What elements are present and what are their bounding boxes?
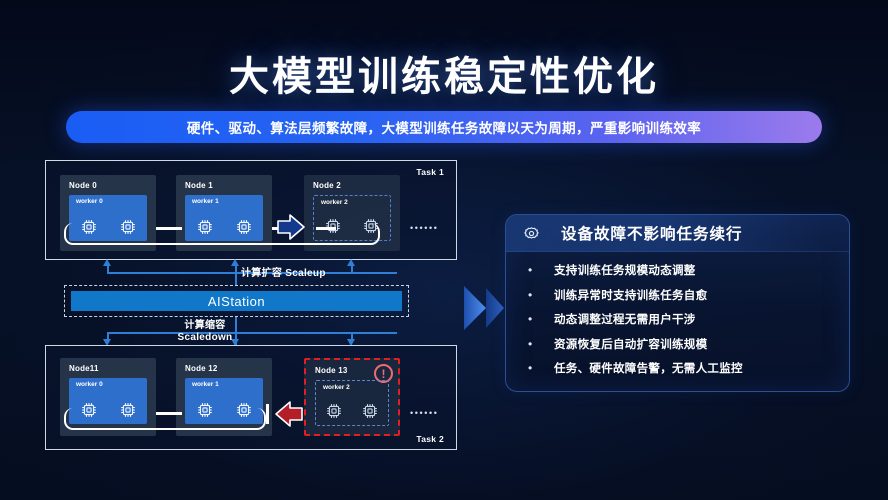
list-item-label: 任务、硬件故障告警，无需人工监控 [554,360,743,376]
aistation-container: AIStation [64,285,409,317]
node-label: Node 2 [313,181,341,190]
scaleup-arrow-icon [276,213,306,246]
headline-banner: 硬件、驱动、算法层频繁故障，大模型训练任务故障以天为周期，严重影响训练效率 [66,111,822,143]
benefits-list: • 支持训练任务规模动态调整 • 训练异常时支持训练任务自愈 • 动态调整过程无… [506,252,849,376]
list-item: • 任务、硬件故障告警，无需人工监控 [528,360,849,376]
scaledown-label-en: Scaledown [178,332,233,343]
node-label: Node 13 [315,366,348,375]
bullet-marker: • [528,362,540,374]
bullet-marker: • [528,338,540,350]
ring-end-cap [266,404,269,424]
scaleup-arrowhead [347,259,355,266]
list-item-label: 动态调整过程无需用户干涉 [554,311,696,327]
worker-box-removing: worker 2 [315,380,389,426]
cpu-chip-icon [360,401,380,421]
node-label: Node11 [69,364,99,373]
list-item-label: 资源恢复后自动扩容训练规模 [554,336,707,352]
task2-label: Task 2 [416,434,444,444]
worker-label: worker 2 [321,199,348,206]
scaleup-label: 计算扩容 Scaleup [241,268,326,280]
task1-label: Task 1 [416,167,444,177]
ring-loop [64,223,380,245]
task2-node-13: Node 13 ! worker 2 [304,358,400,436]
slide-root: 大模型训练稳定性优化 硬件、驱动、算法层频繁故障，大模型训练任务故障以天为周期，… [0,0,888,500]
cpu-chip-icon [324,401,344,421]
scaleup-arrowhead [231,259,239,266]
gear-icon [522,224,541,243]
task2-container: Task 2 Node11 worker 0 [45,345,457,450]
architecture-diagram: Task 1 Node 0 worker 0 [45,160,457,452]
aistation-bar: AIStation [71,291,402,311]
task2-ellipsis: •••••• [410,408,439,418]
scaleup-arrowhead [103,259,111,266]
worker-label: worker 1 [192,198,219,205]
page-title: 大模型训练稳定性优化 [0,44,888,102]
scaledown-label-cn: 计算缩容 [184,320,225,331]
bullet-marker: • [528,264,540,276]
list-item: • 支持训练任务规模动态调整 [528,262,849,278]
list-item: • 动态调整过程无需用户干涉 [528,311,849,327]
list-item-label: 训练异常时支持训练任务自愈 [554,287,707,303]
worker-label: worker 2 [323,384,350,391]
worker-label: worker 0 [76,198,103,205]
node-label: Node 1 [185,181,213,190]
ring-loop [64,408,266,430]
task1-ellipsis: •••••• [410,223,439,233]
node-label: Node 0 [69,181,97,190]
headline-banner-text: 硬件、驱动、算法层频繁故障，大模型训练任务故障以天为周期，严重影响训练效率 [187,117,701,137]
scaleup-trunk [235,272,237,286]
scaledown-label: 计算缩容 Scaledown [150,320,260,343]
benefits-panel: 设备故障不影响任务续行 • 支持训练任务规模动态调整 • 训练异常时支持训练任务… [505,214,850,392]
node-label: Node 12 [185,364,218,373]
benefits-panel-header: 设备故障不影响任务续行 [506,215,849,252]
bullet-marker: • [528,313,540,325]
list-item: • 资源恢复后自动扩容训练规模 [528,336,849,352]
scaledown-arrow-icon [274,400,304,433]
worker-label: worker 0 [76,381,103,388]
benefits-panel-title: 设备故障不影响任务续行 [561,222,743,244]
task1-container: Task 1 Node 0 worker 0 [45,160,457,260]
list-item: • 训练异常时支持训练任务自愈 [528,287,849,303]
list-item-label: 支持训练任务规模动态调整 [554,262,696,278]
worker-label: worker 1 [192,381,219,388]
bullet-marker: • [528,289,540,301]
